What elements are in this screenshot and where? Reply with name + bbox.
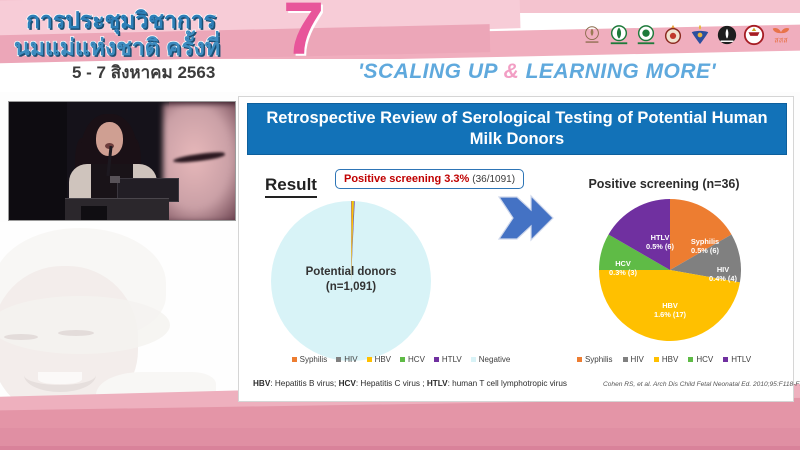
legend-item-hcv: HCV <box>400 355 425 364</box>
pie-left-legend: Syphilis HIV HBV HCV HTLV Negative <box>267 355 535 364</box>
footnote-htlv-def: : human T cell lymphotropic virus <box>448 379 567 388</box>
pie-right-label-hbv-value: 1.6% (17) <box>645 310 695 319</box>
legend-right-label-hiv: HIV <box>631 355 644 364</box>
legend-right-label-hbv: HBV <box>662 355 678 364</box>
pie-right-label-hcv-value: 0.3% (3) <box>601 268 645 277</box>
pie-right-label-syphilis-value: 0.5% (6) <box>679 246 731 255</box>
pie-left-center-label: Potential donors (n=1,091) <box>271 265 431 295</box>
legend-right-swatch-hcv <box>688 357 693 362</box>
legend-label-hiv: HIV <box>344 355 357 364</box>
legend-right-item-hbv: HBV <box>654 355 678 364</box>
conference-tagline: 'SCALING UP & LEARNING MORE' <box>358 60 716 84</box>
pie-right-legend: Syphilis HIV HBV HCV HTLV <box>539 355 789 364</box>
tagline-ampersand: & <box>504 60 520 83</box>
legend-right-label-syphilis: Syphilis <box>585 355 613 364</box>
abbreviation-footnote: HBV: Hepatitis B virus; HCV: Hepatitis C… <box>253 379 793 388</box>
callout-fraction-text: (36/1091) <box>472 174 515 185</box>
sponsor-logo-2-green-circle-icon <box>608 24 630 46</box>
pie-right-label-hiv-name: HIV <box>701 265 745 274</box>
footnote-hcv-def: : Hepatitis C virus ; <box>356 379 427 388</box>
legend-swatch-hcv <box>400 357 405 362</box>
pie-left-label-line-2: (n=1,091) <box>271 280 431 295</box>
pie-right-label-hiv-value: 0.4% (4) <box>701 274 745 283</box>
pie-right-label-htlv: HTLV 0.5% (6) <box>637 233 683 252</box>
footnote-hbv-def: : Hepatitis B virus; <box>270 379 338 388</box>
sponsor-logo-4-royal-emblem-icon <box>662 24 684 46</box>
legend-label-hbv: HBV <box>375 355 391 364</box>
legend-item-syphilis: Syphilis <box>292 355 328 364</box>
pie-right-label-syphilis-name: Syphilis <box>679 237 731 246</box>
video-backdrop-left <box>9 102 67 220</box>
speaker-name-badge <box>110 176 120 183</box>
presentation-stream-frame: การประชุมวิชาการ นมแม่แห่งชาติ ครั้งที่ … <box>0 0 800 450</box>
legend-right-item-syphilis: Syphilis <box>577 355 613 364</box>
sponsor-logo-3-green-circle-icon <box>635 24 657 46</box>
pie-right-label-hbv-name: HBV <box>645 301 695 310</box>
legend-right-item-hiv: HIV <box>623 355 644 364</box>
positive-screening-callout: Positive screening 3.3% (36/1091) <box>335 169 524 189</box>
legend-swatch-hbv <box>367 357 372 362</box>
sponsor-logo-5-garuda-emblem-icon <box>689 24 711 46</box>
legend-right-label-htlv: HTLV <box>731 355 751 364</box>
result-heading: Result <box>265 175 317 198</box>
tagline-part-1: 'SCALING UP <box>358 60 504 83</box>
legend-item-negative: Negative <box>471 355 511 364</box>
pie-right-label-hbv: HBV 1.6% (17) <box>645 301 695 320</box>
conference-header-banner: การประชุมวิชาการ นมแม่แห่งชาติ ครั้งที่ … <box>0 0 800 92</box>
pie-right-title: Positive screening (n=36) <box>539 177 789 191</box>
legend-swatch-htlv <box>434 357 439 362</box>
legend-item-htlv: HTLV <box>434 355 462 364</box>
pie-right-label-htlv-name: HTLV <box>637 233 683 242</box>
pie-right-label-hiv: HIV 0.4% (4) <box>701 265 745 284</box>
legend-swatch-hiv <box>336 357 341 362</box>
legend-right-swatch-syphilis <box>577 357 582 362</box>
legend-item-hiv: HIV <box>336 355 357 364</box>
sponsor-logo-6-black-circle-icon <box>716 24 738 46</box>
legend-label-negative: Negative <box>479 355 511 364</box>
legend-item-hbv: HBV <box>367 355 391 364</box>
legend-label-hcv: HCV <box>408 355 425 364</box>
footnote-text: HBV: Hepatitis B virus; HCV: Hepatitis C… <box>253 379 567 388</box>
footnote-hbv-bold: HBV <box>253 379 270 388</box>
blue-chevron-arrow-icon <box>497 193 555 243</box>
conference-edition-number: 7 <box>283 0 324 66</box>
pie-left-label-line-1: Potential donors <box>271 265 431 280</box>
svg-text:สสส: สสส <box>774 35 788 44</box>
footer-band-edge <box>0 446 800 450</box>
source-citation: Cohen RS, et al. Arch Dis Child Fetal Ne… <box>603 381 800 388</box>
sponsor-logo-7-red-crest-icon <box>743 24 765 46</box>
footnote-htlv-bold: HTLV <box>427 379 448 388</box>
slide-content-panel: Retrospective Review of Serological Test… <box>238 96 794 402</box>
legend-right-item-htlv: HTLV <box>723 355 751 364</box>
legend-label-htlv: HTLV <box>442 355 462 364</box>
legend-swatch-negative <box>471 357 476 362</box>
sponsor-logo-1-seal-icon <box>581 24 603 46</box>
legend-right-swatch-hiv <box>623 357 628 362</box>
sponsor-logos-strip: สสส <box>581 24 792 46</box>
conference-date-thai: 5 - 7 สิงหาคม 2563 <box>72 59 215 86</box>
footnote-hcv-bold: HCV <box>339 379 356 388</box>
podium-panel <box>81 206 107 221</box>
legend-swatch-syphilis <box>292 357 297 362</box>
speaker-webcam-feed[interactable] <box>8 101 236 221</box>
legend-right-item-hcv: HCV <box>688 355 713 364</box>
tagline-part-2: LEARNING MORE' <box>519 60 716 83</box>
legend-right-swatch-htlv <box>723 357 728 362</box>
pie-right-label-hcv-name: HCV <box>601 259 645 268</box>
sponsor-logo-8-thaihealth-icon: สสส <box>770 24 792 46</box>
slide-title: Retrospective Review of Serological Test… <box>247 103 787 155</box>
callout-highlight-text: Positive screening 3.3% <box>344 173 469 185</box>
video-blurred-face-overlay <box>163 104 236 221</box>
pie-right-label-htlv-value: 0.5% (6) <box>637 242 683 251</box>
legend-right-swatch-hbv <box>654 357 659 362</box>
legend-label-syphilis: Syphilis <box>300 355 328 364</box>
legend-right-label-hcv: HCV <box>696 355 713 364</box>
pie-right-label-syphilis: Syphilis 0.5% (6) <box>679 237 731 256</box>
pie-right-label-hcv: HCV 0.3% (3) <box>601 259 645 278</box>
